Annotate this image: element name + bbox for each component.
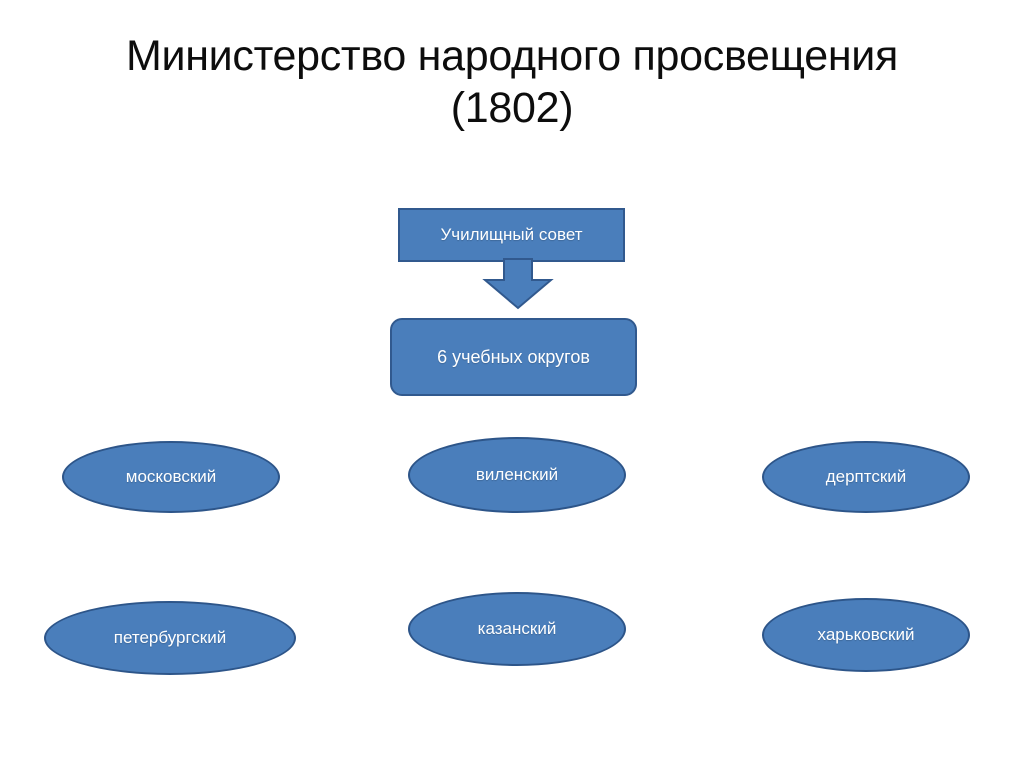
slide-canvas: Министерство народного просвещения (1802… (0, 0, 1024, 767)
diagram-node-district-moskovskiy[interactable]: московский (62, 441, 280, 513)
page-title-line-1: Министерство народного просвещения (62, 30, 962, 82)
diagram-node-district-kazanskiy[interactable]: казанский (408, 592, 626, 666)
diagram-node-district-harkovskiy[interactable]: харьковский (762, 598, 970, 672)
page-title-line-2: (1802) (62, 82, 962, 134)
diagram-node-district-label: петербургский (114, 628, 226, 648)
page-title: Министерство народного просвещения (1802… (62, 30, 962, 134)
diagram-node-district-label: казанский (478, 619, 557, 639)
diagram-node-district-vilenskiy[interactable]: виленский (408, 437, 626, 513)
diagram-node-districts-label: 6 учебных округов (437, 347, 590, 367)
diagram-node-district-label: московский (126, 467, 217, 487)
diagram-node-council[interactable]: Училищный совет (398, 208, 625, 262)
diagram-node-districts[interactable]: 6 учебных округов (390, 318, 637, 396)
diagram-node-district-label: дерптский (826, 467, 907, 487)
down-arrow-icon (482, 258, 554, 310)
diagram-node-district-peterburgskiy[interactable]: петербургский (44, 601, 296, 675)
diagram-node-district-derptskiy[interactable]: дерптский (762, 441, 970, 513)
diagram-node-council-label: Училищный совет (440, 225, 582, 245)
diagram-node-district-label: харьковский (818, 625, 915, 645)
diagram-node-district-label: виленский (476, 465, 558, 485)
